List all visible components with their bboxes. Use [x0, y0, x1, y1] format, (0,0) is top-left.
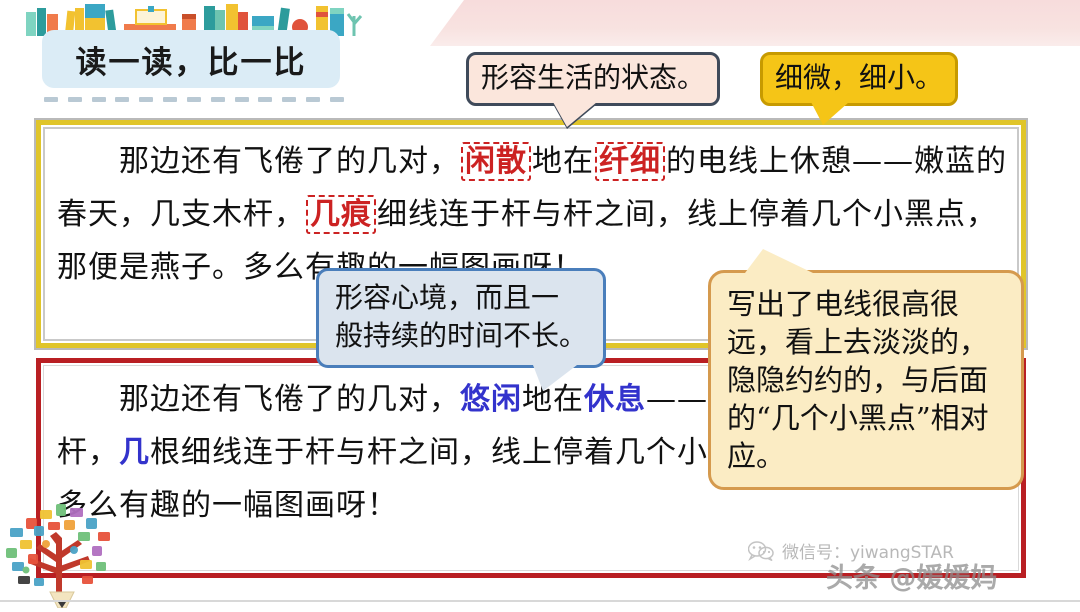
toutiao-watermark: 头条 @媛媛妈	[826, 556, 997, 595]
callout-tail	[533, 365, 577, 391]
dash	[44, 97, 58, 102]
callout-explanation-note: 写出了电线很高很远，看上去淡淡的，隐隐约约的，与后面的“几个小黑点”相对应。	[708, 270, 1024, 490]
dash	[330, 97, 344, 102]
passage-one-seg1: 那边还有飞倦了的几对，	[119, 144, 460, 179]
pencil-tree-decoration	[0, 492, 130, 608]
callout-mood-body: 形容心境，而且一 般持续的时间不长。	[316, 268, 606, 368]
highlight-jihen: 几痕	[306, 195, 376, 234]
toutiao-watermark-label: 头条 @媛媛妈	[826, 556, 997, 595]
highlight-ji: 几	[119, 435, 150, 470]
callout-mood-meaning: 形容心境，而且一 般持续的时间不长。	[316, 268, 606, 368]
callout-state-of-life: 形容生活的状态。	[466, 52, 720, 106]
footer-divider	[0, 600, 1080, 602]
callout-mood-line2: 般持续的时间不长。	[335, 317, 587, 355]
callout-tiny-meaning: 细微，细小。	[760, 52, 958, 106]
dash	[306, 97, 320, 102]
callout-tiny-text: 细微，细小。	[775, 61, 943, 94]
callout-tail	[745, 249, 813, 273]
pink-banner-band	[430, 0, 1080, 46]
pencil-tree-icon	[0, 492, 130, 608]
callout-tail	[811, 102, 849, 125]
dash	[187, 97, 201, 102]
dash	[115, 97, 129, 102]
highlight-xiansan: 闲散	[461, 142, 531, 181]
dash	[139, 97, 153, 102]
page-title: 读一读，比一比	[76, 37, 307, 82]
passage-two-seg1: 那边还有飞倦了的几对，	[119, 382, 460, 417]
dash	[211, 97, 225, 102]
dash	[282, 97, 296, 102]
dash	[92, 97, 106, 102]
dash	[235, 97, 249, 102]
highlight-youxian: 悠闲	[460, 382, 522, 417]
dash	[258, 97, 272, 102]
callout-mood-line1: 形容心境，而且一	[335, 279, 587, 317]
callout-state-body: 形容生活的状态。	[466, 52, 720, 106]
page-title-box: 读一读，比一比	[42, 30, 340, 88]
highlight-xianxi: 纤细	[595, 142, 665, 181]
callout-state-text: 形容生活的状态。	[481, 61, 705, 94]
wechat-icon	[748, 541, 774, 561]
dash	[68, 97, 82, 102]
callout-note-body: 写出了电线很高很远，看上去淡淡的，隐隐约约的，与后面的“几个小黑点”相对应。	[708, 270, 1024, 490]
highlight-xiuxi: 休息	[584, 382, 646, 417]
callout-tail	[553, 102, 597, 127]
dash	[163, 97, 177, 102]
callout-note-text: 写出了电线很高很远，看上去淡淡的，隐隐约约的，与后面的“几个小黑点”相对应。	[727, 287, 989, 473]
passage-one-seg2: 地在	[532, 144, 594, 179]
callout-tiny-body: 细微，细小。	[760, 52, 958, 106]
title-underline-dashes	[44, 96, 344, 103]
